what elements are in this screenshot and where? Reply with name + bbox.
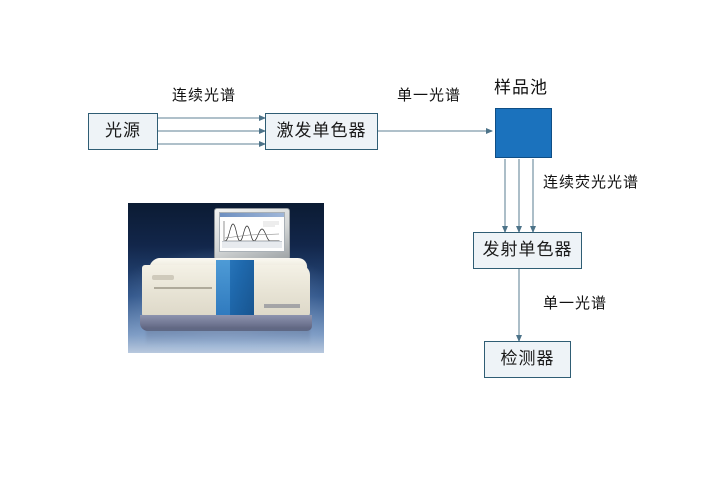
software-titlebar [220, 213, 284, 217]
diagram-canvas: 光源 激发单色器 样品池 发射单色器 检测器 连续光谱 单一光谱 连续荧光光谱 … [0, 0, 726, 499]
node-sample-cell-label: 样品池 [494, 80, 548, 97]
spectrum-plot-icon [223, 220, 281, 242]
node-excitation-monochromator[interactable]: 激发单色器 [265, 113, 378, 150]
instrument-reflection [146, 329, 310, 345]
instrument-photo [128, 203, 324, 353]
rays-cell-to-emission [505, 159, 533, 232]
node-detector-label: 检测器 [501, 351, 555, 368]
rays-source-to-excitation [157, 118, 265, 144]
node-detector[interactable]: 检测器 [484, 341, 571, 378]
node-sample-cell[interactable] [495, 108, 552, 158]
connector-layer [0, 0, 726, 499]
node-emission-monochromator-label: 发射单色器 [483, 242, 573, 259]
instrument-seam-line [154, 287, 212, 289]
instrument-brand-mark [264, 304, 300, 308]
node-light-source-label: 光源 [105, 123, 141, 140]
node-light-source[interactable]: 光源 [88, 113, 158, 150]
flow-label-single-spectrum-to-detector: 单一光谱 [543, 296, 607, 311]
monitor-screen [219, 212, 285, 252]
flow-label-continuous-fluorescence-spectrum: 连续荧光光谱 [543, 175, 639, 190]
node-excitation-monochromator-label: 激发单色器 [277, 123, 367, 140]
flow-label-single-spectrum-to-cell: 单一光谱 [397, 88, 461, 103]
flow-label-continuous-spectrum: 连续光谱 [172, 88, 236, 103]
instrument-vent [152, 275, 174, 280]
node-emission-monochromator[interactable]: 发射单色器 [473, 232, 582, 269]
software-statusbar [222, 241, 282, 248]
